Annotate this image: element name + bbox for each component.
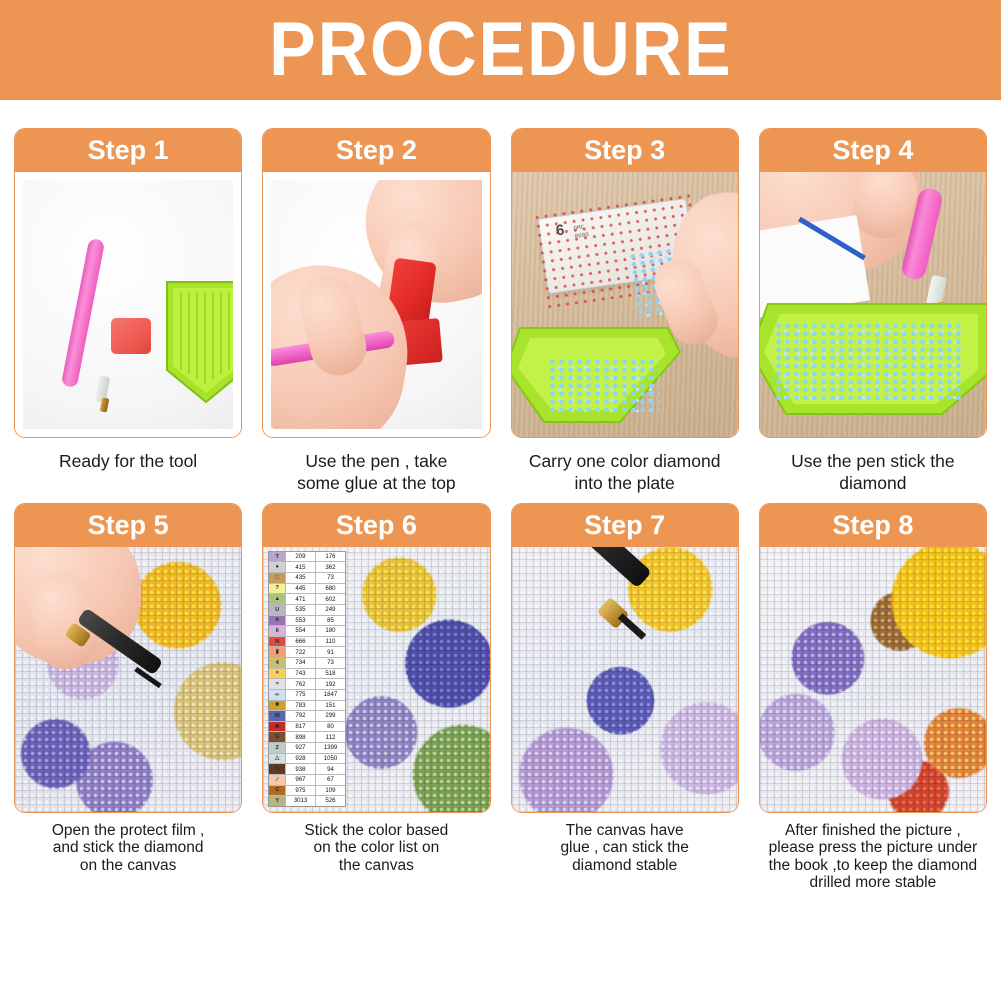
step-card-2: Step 2 (262, 128, 490, 438)
chart-color-swatch: N (269, 637, 286, 647)
bag-number-label: 6 (554, 222, 565, 240)
chart-count: 249 (316, 605, 346, 615)
chart-dmc-code: 722 (286, 647, 316, 657)
chart-color-swatch: T (269, 552, 286, 562)
step-card-4: Step 4 (759, 128, 987, 438)
chart-color-swatch: W (269, 711, 286, 721)
step-caption-1: Ready for the tool (14, 438, 242, 472)
photo-sticking-on-canvas (15, 547, 241, 812)
step-card-6: Step 6 T209176●415362□43573?445680▲47160… (262, 503, 490, 813)
step-caption-7: The canvas have glue , can stick the dia… (511, 813, 739, 874)
step-label-1: Step 1 (88, 135, 169, 166)
chart-row: ✖81780 (269, 722, 345, 733)
chart-dmc-code: 783 (286, 701, 316, 711)
photo-pick-diamond (760, 172, 986, 437)
chart-color-swatch: Y (269, 796, 286, 806)
step-header-6: Step 6 (263, 504, 489, 547)
step-header-3: Step 3 (512, 129, 738, 172)
chart-count: 176 (316, 552, 346, 562)
chart-dmc-code: 775 (286, 690, 316, 700)
chart-row: T209176 (269, 552, 345, 563)
step-cell-5: Step 5 Open the protect film , and stick… (14, 503, 242, 891)
chart-dmc-code: 975 (286, 786, 316, 796)
chart-row: N666110 (269, 637, 345, 648)
chart-row: W792299 (269, 711, 345, 722)
diamonds-in-tray (774, 322, 964, 400)
chart-row: G898112 (269, 732, 345, 743)
chart-color-swatch: = (269, 679, 286, 689)
chart-color-swatch: × (269, 669, 286, 679)
chart-row: ∞7751847 (269, 690, 345, 701)
chart-color-swatch: Z (269, 743, 286, 753)
chart-color-swatch: ✖ (269, 722, 286, 732)
step-caption-8: After finished the picture , please pres… (759, 813, 987, 891)
step-cell-8: Step 8 After finished the picture , plea… (759, 503, 987, 891)
step-header-4: Step 4 (760, 129, 986, 172)
steps-grid: Step 1 (0, 100, 1001, 891)
green-tray-icon (163, 278, 233, 406)
chart-color-swatch: ● (269, 562, 286, 572)
chart-dmc-code: 445 (286, 584, 316, 594)
step-header-2: Step 2 (263, 129, 489, 172)
chart-row: □43573 (269, 573, 345, 584)
chart-count: 180 (316, 626, 346, 636)
step-caption-2: Use the pen , take some glue at the top (262, 438, 490, 495)
step-cell-7: Step 7 The canvas have glue , can stick … (511, 503, 739, 891)
chart-count: 680 (316, 584, 346, 594)
step-card-8: Step 8 (759, 503, 987, 813)
chart-dmc-code: 898 (286, 732, 316, 742)
chart-count: 67 (316, 775, 346, 785)
step-caption-6: Stick the color based on the color list … (262, 813, 490, 874)
step-header-5: Step 5 (15, 504, 241, 547)
step-card-5: Step 5 (14, 503, 242, 813)
step-label-8: Step 8 (832, 510, 913, 541)
chart-dmc-code: 471 (286, 594, 316, 604)
diamonds-in-tray (548, 358, 660, 412)
chart-row: ✸783151 (269, 701, 345, 712)
page-header-banner: PROCEDURE (0, 0, 1001, 100)
step-caption-3: Carry one color diamond into the plate (511, 438, 739, 495)
step-label-5: Step 5 (88, 510, 169, 541)
chart-dmc-code: 209 (286, 552, 316, 562)
bag-code-text: DMC0000 (573, 223, 589, 240)
chart-color-swatch: ▲ (269, 594, 286, 604)
chart-dmc-code: 762 (286, 679, 316, 689)
step-card-1: Step 1 (14, 128, 242, 438)
chart-color-swatch: 4 (269, 658, 286, 668)
chart-count: 602 (316, 594, 346, 604)
chart-dmc-code: 415 (286, 562, 316, 572)
chart-dmc-code: 734 (286, 658, 316, 668)
chart-row: 6554180 (269, 626, 345, 637)
chart-color-swatch: ✸ (269, 701, 286, 711)
chart-dmc-code: 967 (286, 775, 316, 785)
chart-row: ×743518 (269, 669, 345, 680)
chart-row: ▲471602 (269, 594, 345, 605)
chart-color-swatch: □ (269, 573, 286, 583)
step-image-4 (760, 172, 986, 437)
step-image-7 (512, 547, 738, 812)
chart-color-swatch: ? (269, 584, 286, 594)
chart-dmc-code: 435 (286, 573, 316, 583)
photo-color-chart-canvas: T209176●415362□43573?445680▲471602U53524… (263, 547, 489, 812)
chart-color-swatch: U (269, 605, 286, 615)
chart-dmc-code: 554 (286, 626, 316, 636)
chart-count: 362 (316, 562, 346, 572)
chart-row: ?445680 (269, 584, 345, 595)
chart-color-swatch: G (269, 732, 286, 742)
chart-row: U535249 (269, 605, 345, 616)
step-label-2: Step 2 (336, 135, 417, 166)
chart-count: 73 (316, 658, 346, 668)
chart-row: 473473 (269, 658, 345, 669)
step-cell-3: Step 3 6 DMC0000 (511, 128, 739, 495)
chart-row: ●415362 (269, 562, 345, 573)
chart-count: 110 (316, 637, 346, 647)
chart-color-swatch: b (269, 616, 286, 626)
chart-dmc-code: 927 (286, 743, 316, 753)
chart-count: 1050 (316, 754, 346, 764)
step-header-8: Step 8 (760, 504, 986, 547)
step-image-5 (15, 547, 241, 812)
step-cell-1: Step 1 (14, 128, 242, 495)
photo-tool-set (23, 180, 233, 429)
chart-count: 151 (316, 701, 346, 711)
photo-glue-on-pen (271, 180, 481, 429)
chart-dmc-code: 553 (286, 616, 316, 626)
chart-row: ⁄96767 (269, 775, 345, 786)
photo-pen-on-canvas (512, 547, 738, 812)
chart-count: 80 (316, 722, 346, 732)
chart-color-swatch: ∞ (269, 690, 286, 700)
step-image-6: T209176●415362□43573?445680▲471602U53524… (263, 547, 489, 812)
chart-row: Y3013526 (269, 796, 345, 806)
chart-color-swatch: △ (269, 754, 286, 764)
chart-dmc-code: 3013 (286, 796, 316, 806)
step-image-1 (15, 172, 241, 437)
chart-row: C975109 (269, 786, 345, 797)
step-cell-2: Step 2 Use the pen , take some glue at t… (262, 128, 490, 495)
chart-row: ▮72291 (269, 647, 345, 658)
chart-row: △9281050 (269, 754, 345, 765)
chart-count: 85 (316, 616, 346, 626)
chart-dmc-code: 535 (286, 605, 316, 615)
chart-dmc-code: 792 (286, 711, 316, 721)
diamond-grid (512, 547, 738, 812)
step-image-3: 6 DMC0000 (512, 172, 738, 437)
step-label-6: Step 6 (336, 510, 417, 541)
step-label-7: Step 7 (584, 510, 665, 541)
chart-dmc-code: 666 (286, 637, 316, 647)
chart-dmc-code: 817 (286, 722, 316, 732)
chart-row: b55385 (269, 616, 345, 627)
chart-count: 192 (316, 679, 346, 689)
step-card-3: Step 3 6 DMC0000 (511, 128, 739, 438)
step-cell-6: Step 6 T209176●415362□43573?445680▲47160… (262, 503, 490, 891)
chart-row: Z9271399 (269, 743, 345, 754)
chart-count: 73 (316, 573, 346, 583)
color-symbol-chart: T209176●415362□43573?445680▲471602U53524… (268, 551, 346, 807)
step-image-2 (263, 172, 489, 437)
step-caption-5: Open the protect film , and stick the di… (14, 813, 242, 874)
photo-finished-painting (760, 547, 986, 812)
chart-count: 526 (316, 796, 346, 806)
chart-color-swatch: 5 (269, 764, 286, 774)
step-label-4: Step 4 (832, 135, 913, 166)
chart-row: 593894 (269, 764, 345, 775)
red-wax-icon (111, 318, 151, 354)
chart-count: 518 (316, 669, 346, 679)
step-caption-4: Use the pen stick the diamond (759, 438, 987, 495)
chart-count: 1399 (316, 743, 346, 753)
step-card-7: Step 7 (511, 503, 739, 813)
chart-count: 109 (316, 786, 346, 796)
chart-color-swatch: ▮ (269, 647, 286, 657)
chart-color-swatch: 6 (269, 626, 286, 636)
step-header-7: Step 7 (512, 504, 738, 547)
step-image-8 (760, 547, 986, 812)
photo-pour-diamonds: 6 DMC0000 (512, 172, 738, 437)
chart-count: 94 (316, 764, 346, 774)
chart-color-swatch: ⁄ (269, 775, 286, 785)
chart-color-swatch: C (269, 786, 286, 796)
chart-count: 91 (316, 647, 346, 657)
chart-row: =762192 (269, 679, 345, 690)
page-title: PROCEDURE (269, 12, 732, 88)
step-label-3: Step 3 (584, 135, 665, 166)
chart-count: 112 (316, 732, 346, 742)
step-cell-4: Step 4 (759, 128, 987, 495)
chart-count: 299 (316, 711, 346, 721)
chart-dmc-code: 743 (286, 669, 316, 679)
chart-dmc-code: 928 (286, 754, 316, 764)
diamond-grid (760, 547, 986, 812)
step-header-1: Step 1 (15, 129, 241, 172)
chart-count: 1847 (316, 690, 346, 700)
chart-dmc-code: 938 (286, 764, 316, 774)
